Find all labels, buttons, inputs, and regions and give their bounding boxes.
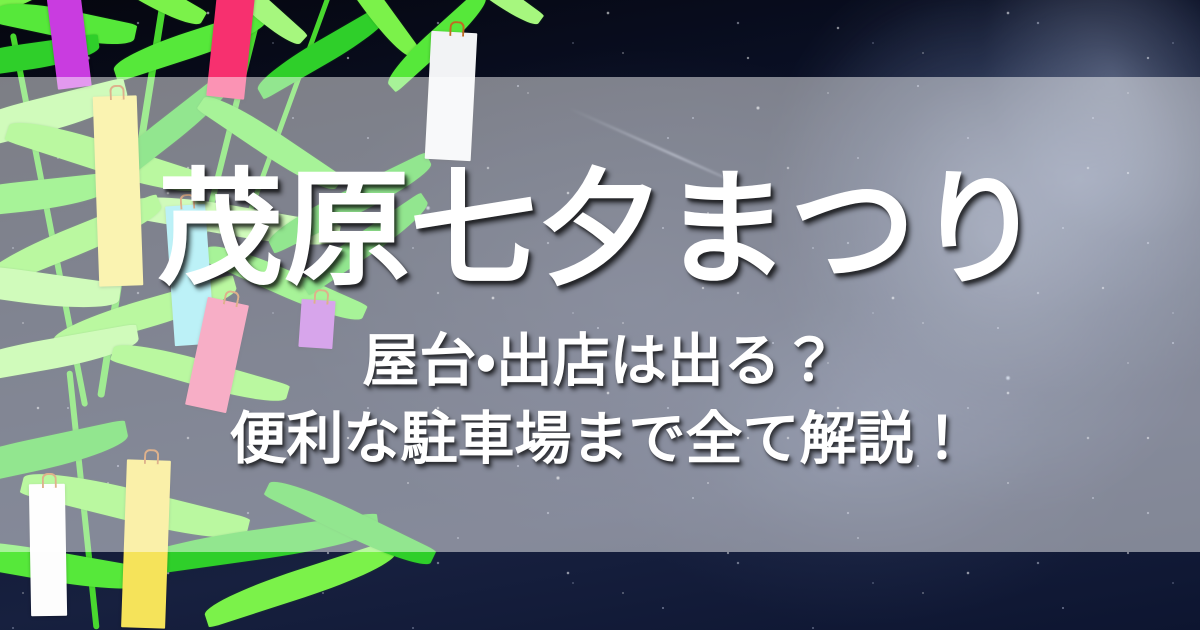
- page-title: 茂原七夕まつり: [157, 162, 1043, 298]
- subtitle-line-1: 屋台・出店は出る？: [362, 324, 837, 400]
- subtitle-line-2: 便利な駐車場まで全て解説！: [230, 402, 971, 478]
- text-overlay: 茂原七夕まつり 屋台・出店は出る？ 便利な駐車場まで全て解説！: [0, 0, 1200, 630]
- thumbnail-canvas: 茂原七夕まつり 屋台・出店は出る？ 便利な駐車場まで全て解説！: [0, 0, 1200, 630]
